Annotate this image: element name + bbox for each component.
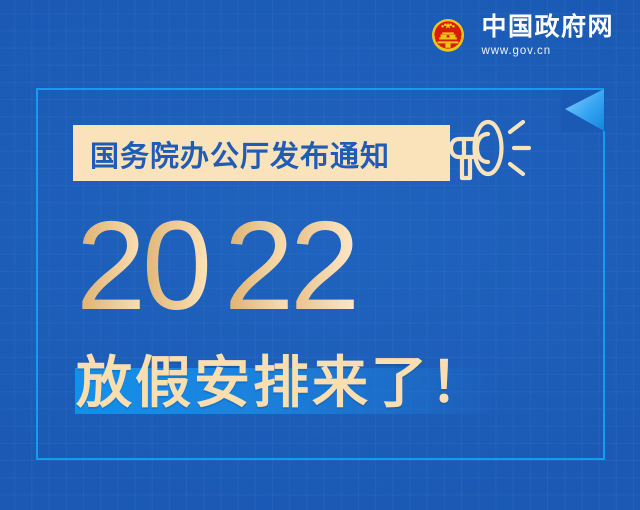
china-national-emblem-icon <box>426 14 470 58</box>
notice-banner-text: 国务院办公厅发布通知 <box>90 126 435 181</box>
year-digit-2: 0 <box>142 206 209 332</box>
poster-root: 中国政府网 www.gov.cn 国务院办公厅发布通知 <box>0 0 640 510</box>
megaphone-icon <box>440 112 544 192</box>
site-logo-text: 中国政府网 www.gov.cn <box>481 15 614 58</box>
page-fold-corner-icon <box>561 88 605 132</box>
site-name: 中国政府网 <box>481 15 614 40</box>
site-logo[interactable]: 中国政府网 www.gov.cn <box>426 14 614 58</box>
site-url: www.gov.cn <box>481 46 614 58</box>
headline-text: 放假安排来了！ <box>76 340 566 416</box>
year-digit-4: 2 <box>290 206 357 332</box>
year-2022: 2 0 2 2 <box>76 206 366 332</box>
year-digit-1: 2 <box>76 206 143 332</box>
year-digit-3: 2 <box>224 206 291 332</box>
